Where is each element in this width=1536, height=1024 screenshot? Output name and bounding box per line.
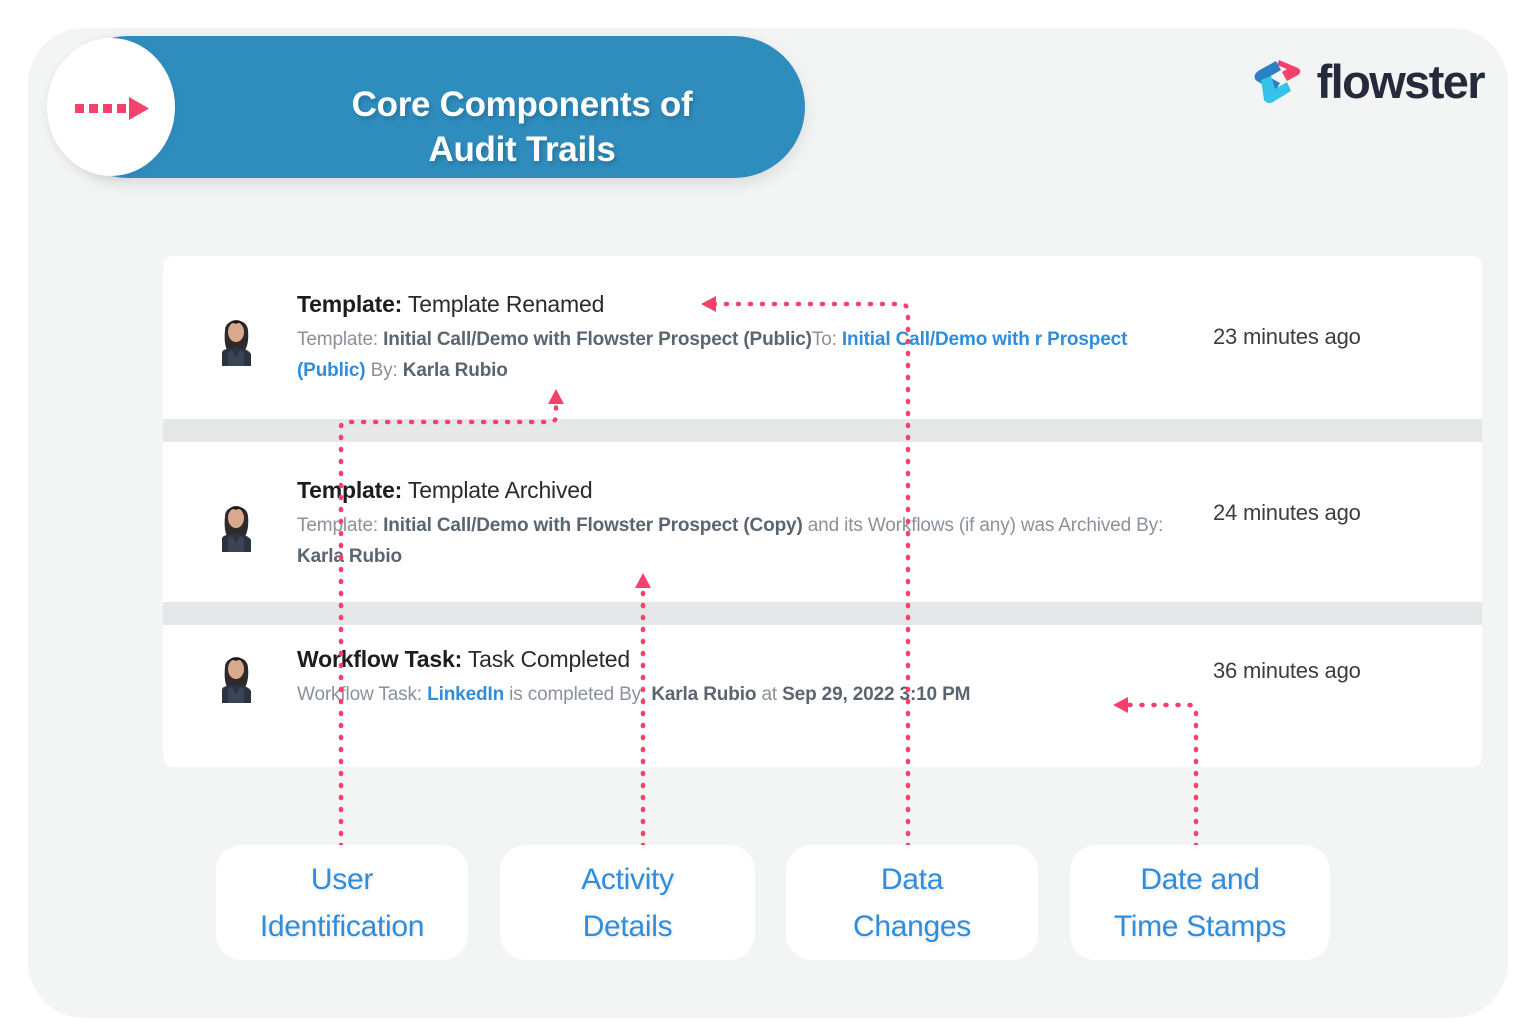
row-timestamp: 23 minutes ago <box>1213 324 1361 350</box>
row-description: Workflow Task: LinkedIn is completed By:… <box>297 679 1197 710</box>
audit-log-list: Template: Template Renamed Template: Ini… <box>163 256 1482 767</box>
desc-by-value: Karla Rubio <box>297 546 402 567</box>
header-icon-circle <box>47 38 175 176</box>
desc-by-value: Karla Rubio <box>651 684 756 705</box>
desc-at-label: at <box>761 684 777 705</box>
page-title-line2: Audit Trails <box>247 127 797 172</box>
table-row[interactable]: Template: Template Renamed Template: Ini… <box>163 256 1482 419</box>
row-title: Template: Template Archived <box>297 474 1197 506</box>
desc-mid: To: <box>812 329 837 350</box>
page-title-line1: Core Components of <box>247 82 797 127</box>
infographic-page: Core Components of Audit Trails flowster <box>0 0 1536 1024</box>
row-content: Template: Template Renamed Template: Ini… <box>297 288 1197 386</box>
callout-line1: Activity <box>500 856 755 903</box>
row-description: Template: Initial Call/Demo with Flowste… <box>297 510 1197 572</box>
row-title-value: Template Renamed <box>408 291 604 317</box>
row-title: Template: Template Renamed <box>297 288 1197 320</box>
row-title-label: Workflow Task: <box>297 646 462 672</box>
brand-logo: flowster <box>1251 56 1484 108</box>
row-title-value: Template Archived <box>408 477 593 503</box>
desc-prefix: Template: <box>297 515 378 536</box>
callout-data-changes[interactable]: Data Changes <box>786 845 1038 960</box>
flowster-logo-mark <box>1251 56 1303 108</box>
row-divider <box>163 602 1482 625</box>
desc-prefix: Workflow Task: <box>297 684 422 705</box>
callout-line2: Time Stamps <box>1070 903 1330 950</box>
callout-user-identification[interactable]: User Identification <box>216 845 468 960</box>
callout-line2: Details <box>500 903 755 950</box>
row-title-label: Template: <box>297 477 402 503</box>
callout-date-time-stamps[interactable]: Date and Time Stamps <box>1070 845 1330 960</box>
table-row[interactable]: Template: Template Archived Template: In… <box>163 442 1482 602</box>
dashed-arrow-icon <box>75 96 149 120</box>
page-title: Core Components of Audit Trails <box>247 82 797 172</box>
desc-mid: is completed By: <box>509 684 646 705</box>
table-row[interactable]: Workflow Task: Task Completed Workflow T… <box>163 625 1482 767</box>
avatar <box>213 494 259 552</box>
row-timestamp: 36 minutes ago <box>1213 658 1361 684</box>
callout-line1: User <box>216 856 468 903</box>
avatar <box>213 308 259 366</box>
row-title-value: Task Completed <box>468 646 630 672</box>
desc-prefix: Template: <box>297 329 378 350</box>
callout-line1: Data <box>786 856 1038 903</box>
row-title-label: Template: <box>297 291 402 317</box>
desc-old-value: Initial Call/Demo with Flowster Prospect… <box>383 329 812 350</box>
row-divider <box>163 419 1482 442</box>
desc-by-label: By: <box>371 360 398 381</box>
callout-line1: Date and <box>1070 856 1330 903</box>
brand-name: flowster <box>1317 56 1484 108</box>
row-content: Template: Template Archived Template: In… <box>297 474 1197 572</box>
row-content: Workflow Task: Task Completed Workflow T… <box>297 643 1197 710</box>
callout-line2: Identification <box>216 903 468 950</box>
callout-activity-details[interactable]: Activity Details <box>500 845 755 960</box>
desc-mid: and its Workflows (if any) was Archived … <box>808 515 1163 536</box>
avatar <box>213 645 259 703</box>
desc-link[interactable]: LinkedIn <box>427 684 504 705</box>
desc-by-value: Karla Rubio <box>403 360 508 381</box>
row-description: Template: Initial Call/Demo with Flowste… <box>297 324 1197 386</box>
row-title: Workflow Task: Task Completed <box>297 643 1197 675</box>
desc-at-value: Sep 29, 2022 3:10 PM <box>782 684 970 705</box>
row-timestamp: 24 minutes ago <box>1213 500 1361 526</box>
desc-old-value: Initial Call/Demo with Flowster Prospect… <box>383 515 802 536</box>
callout-line2: Changes <box>786 903 1038 950</box>
